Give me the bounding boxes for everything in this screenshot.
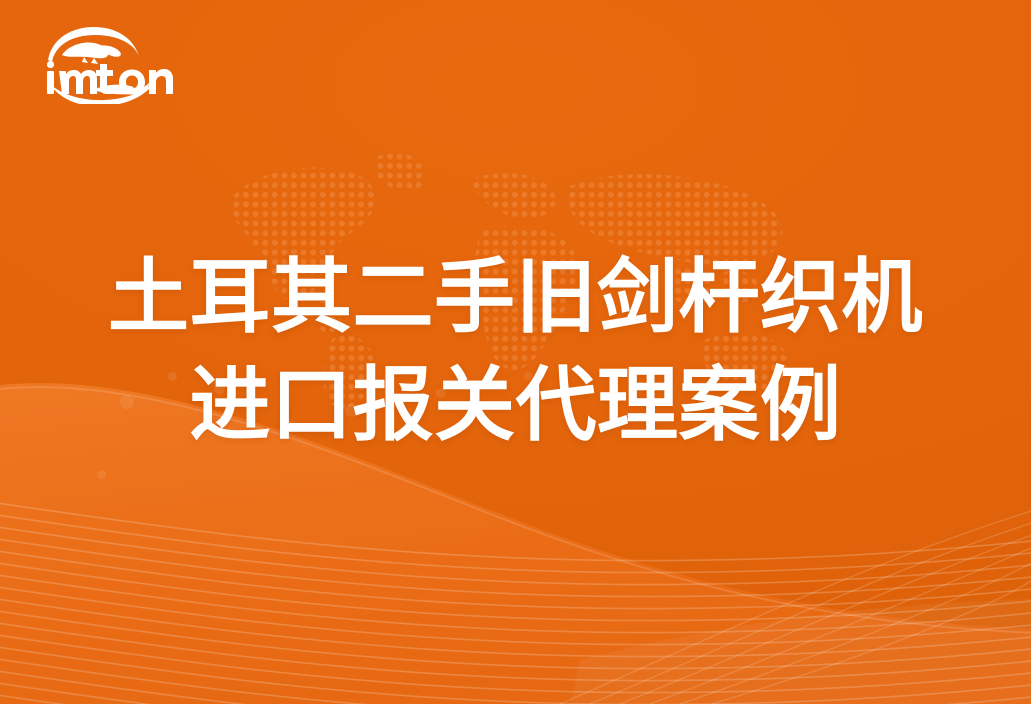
page-title: 土耳其二手旧剑杆织机 进口报关代理案例: [0, 252, 1031, 453]
contour-lines: [0, 494, 1031, 704]
brand-logo[interactable]: [38, 24, 218, 104]
promo-banner: 土耳其二手旧剑杆织机 进口报关代理案例: [0, 0, 1031, 704]
headline-line-1: 土耳其二手旧剑杆织机: [0, 252, 1031, 344]
headline-line-2: 进口报关代理案例: [0, 360, 1031, 452]
globe-swoosh-icon: [38, 24, 218, 104]
